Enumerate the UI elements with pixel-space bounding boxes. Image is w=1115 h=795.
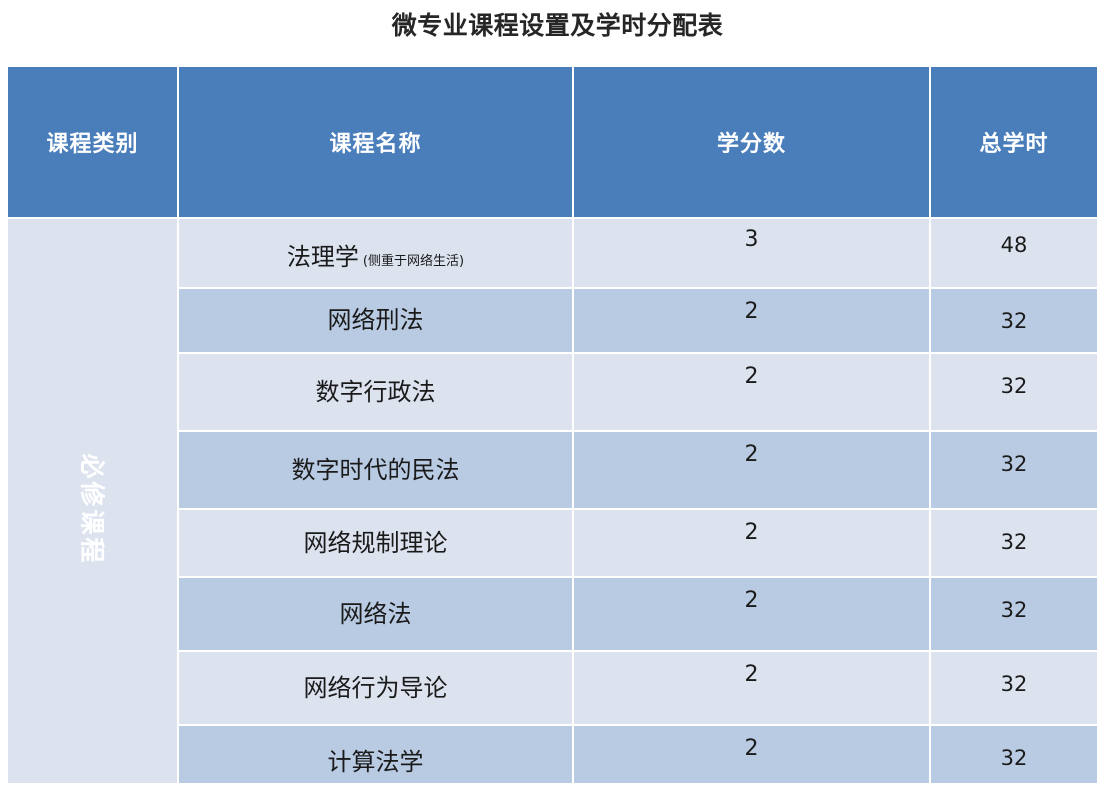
table-row: 必修课程法理学(侧重于网络生活)348: [8, 218, 1097, 288]
column-header-course-name: 课程名称: [178, 67, 573, 218]
credits-cell: 2: [573, 651, 930, 725]
course-name-text: 数字时代的民法: [292, 456, 460, 484]
credits-cell: 2: [573, 725, 930, 783]
total-hours-cell: 32: [930, 431, 1097, 509]
credits-cell: 2: [573, 577, 930, 651]
course-name-text: 法理学: [287, 243, 359, 271]
credits-cell: 3: [573, 218, 930, 288]
total-hours-cell: 32: [930, 577, 1097, 651]
course-name-cell: 数字行政法: [178, 353, 573, 431]
course-name-text: 网络刑法: [328, 306, 424, 334]
header-row: 课程类别 课程名称 学分数 总学时: [8, 67, 1097, 218]
course-name-cell: 网络行为导论: [178, 651, 573, 725]
course-name-annotation: (侧重于网络生活): [363, 254, 464, 269]
course-name-text: 数字行政法: [316, 378, 436, 406]
column-header-credits: 学分数: [573, 67, 930, 218]
page-root: 微专业课程设置及学时分配表 课程类别 课程名称 学分数 总学时 必修课程法理学(…: [0, 0, 1115, 795]
course-table: 课程类别 课程名称 学分数 总学时 必修课程法理学(侧重于网络生活)348网络刑…: [8, 67, 1097, 783]
table-body: 必修课程法理学(侧重于网络生活)348网络刑法232数字行政法232数字时代的民…: [8, 218, 1097, 783]
course-name-cell: 法理学(侧重于网络生活): [178, 218, 573, 288]
credits-cell: 2: [573, 509, 930, 577]
total-hours-cell: 32: [930, 288, 1097, 353]
course-table-container: 课程类别 课程名称 学分数 总学时 必修课程法理学(侧重于网络生活)348网络刑…: [8, 67, 1097, 783]
course-name-cell: 网络刑法: [178, 288, 573, 353]
column-header-total-hours: 总学时: [930, 67, 1097, 218]
course-name-text: 网络行为导论: [304, 674, 448, 702]
course-name-text: 网络规制理论: [304, 529, 448, 557]
total-hours-cell: 32: [930, 509, 1097, 577]
credits-cell: 2: [573, 353, 930, 431]
column-header-category: 课程类别: [8, 67, 178, 218]
course-name-cell: 计算法学: [178, 725, 573, 783]
total-hours-cell: 32: [930, 353, 1097, 431]
credits-cell: 2: [573, 288, 930, 353]
table-header: 课程类别 课程名称 学分数 总学时: [8, 67, 1097, 218]
total-hours-cell: 48: [930, 218, 1097, 288]
category-cell: 必修课程: [8, 218, 178, 783]
category-label-vertical: 必修课程: [80, 453, 105, 565]
total-hours-cell: 32: [930, 651, 1097, 725]
total-hours-cell: 32: [930, 725, 1097, 783]
course-name-cell: 网络规制理论: [178, 509, 573, 577]
course-name-cell: 网络法: [178, 577, 573, 651]
credits-cell: 2: [573, 431, 930, 509]
course-name-text: 网络法: [340, 600, 412, 628]
course-name-text: 计算法学: [328, 748, 424, 776]
course-name-cell: 数字时代的民法: [178, 431, 573, 509]
page-title: 微专业课程设置及学时分配表: [0, 9, 1115, 43]
